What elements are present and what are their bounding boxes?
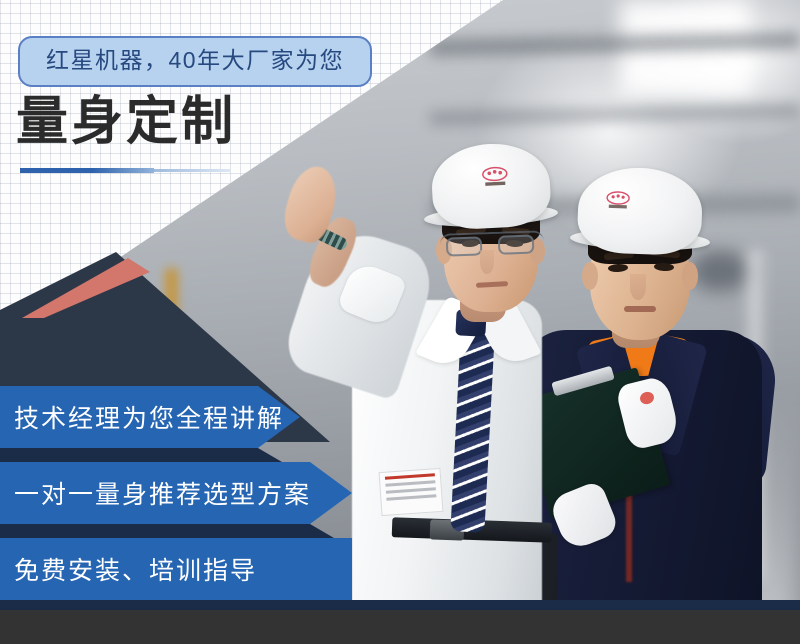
promo-banner: 红星机器，40年大厂家为您 量身定制 技术经理为您全程讲解 一对一量身推荐选型方… — [0, 0, 800, 644]
feature-banner-3-label: 免费安装、培训指导 — [14, 551, 257, 587]
feature-banner-shadow — [0, 524, 334, 538]
engineer-nose — [480, 250, 494, 274]
feature-banner-shadow — [0, 600, 800, 610]
feature-banner-1-label: 技术经理为您全程讲解 — [14, 399, 284, 435]
feature-banner-1[interactable]: 技术经理为您全程讲解 — [0, 386, 300, 448]
technician-ear-right — [682, 262, 698, 290]
helmet-logo-icon — [477, 165, 512, 191]
feature-banner-3[interactable]: 免费安装、培训指导 — [0, 538, 352, 600]
ceiling-beam — [430, 104, 800, 125]
technician-mouth — [624, 306, 656, 312]
tagline-badge: 红星机器，40年大厂家为您 — [18, 36, 372, 87]
page-title: 量身定制 — [16, 96, 236, 148]
helmet-logo-icon — [602, 189, 635, 212]
footer-strip — [0, 610, 800, 644]
background-doorway — [690, 250, 750, 292]
feature-banner-2-label: 一对一量身推荐选型方案 — [14, 475, 311, 511]
technician-nose — [630, 274, 646, 300]
engineer-id-badge — [379, 468, 444, 516]
title-underline-tail — [154, 169, 230, 172]
feature-banner-shadow — [0, 448, 282, 462]
technician-ear-left — [582, 262, 598, 290]
feature-banner-2[interactable]: 一对一量身推荐选型方案 — [0, 462, 352, 524]
title-underline — [20, 168, 154, 173]
